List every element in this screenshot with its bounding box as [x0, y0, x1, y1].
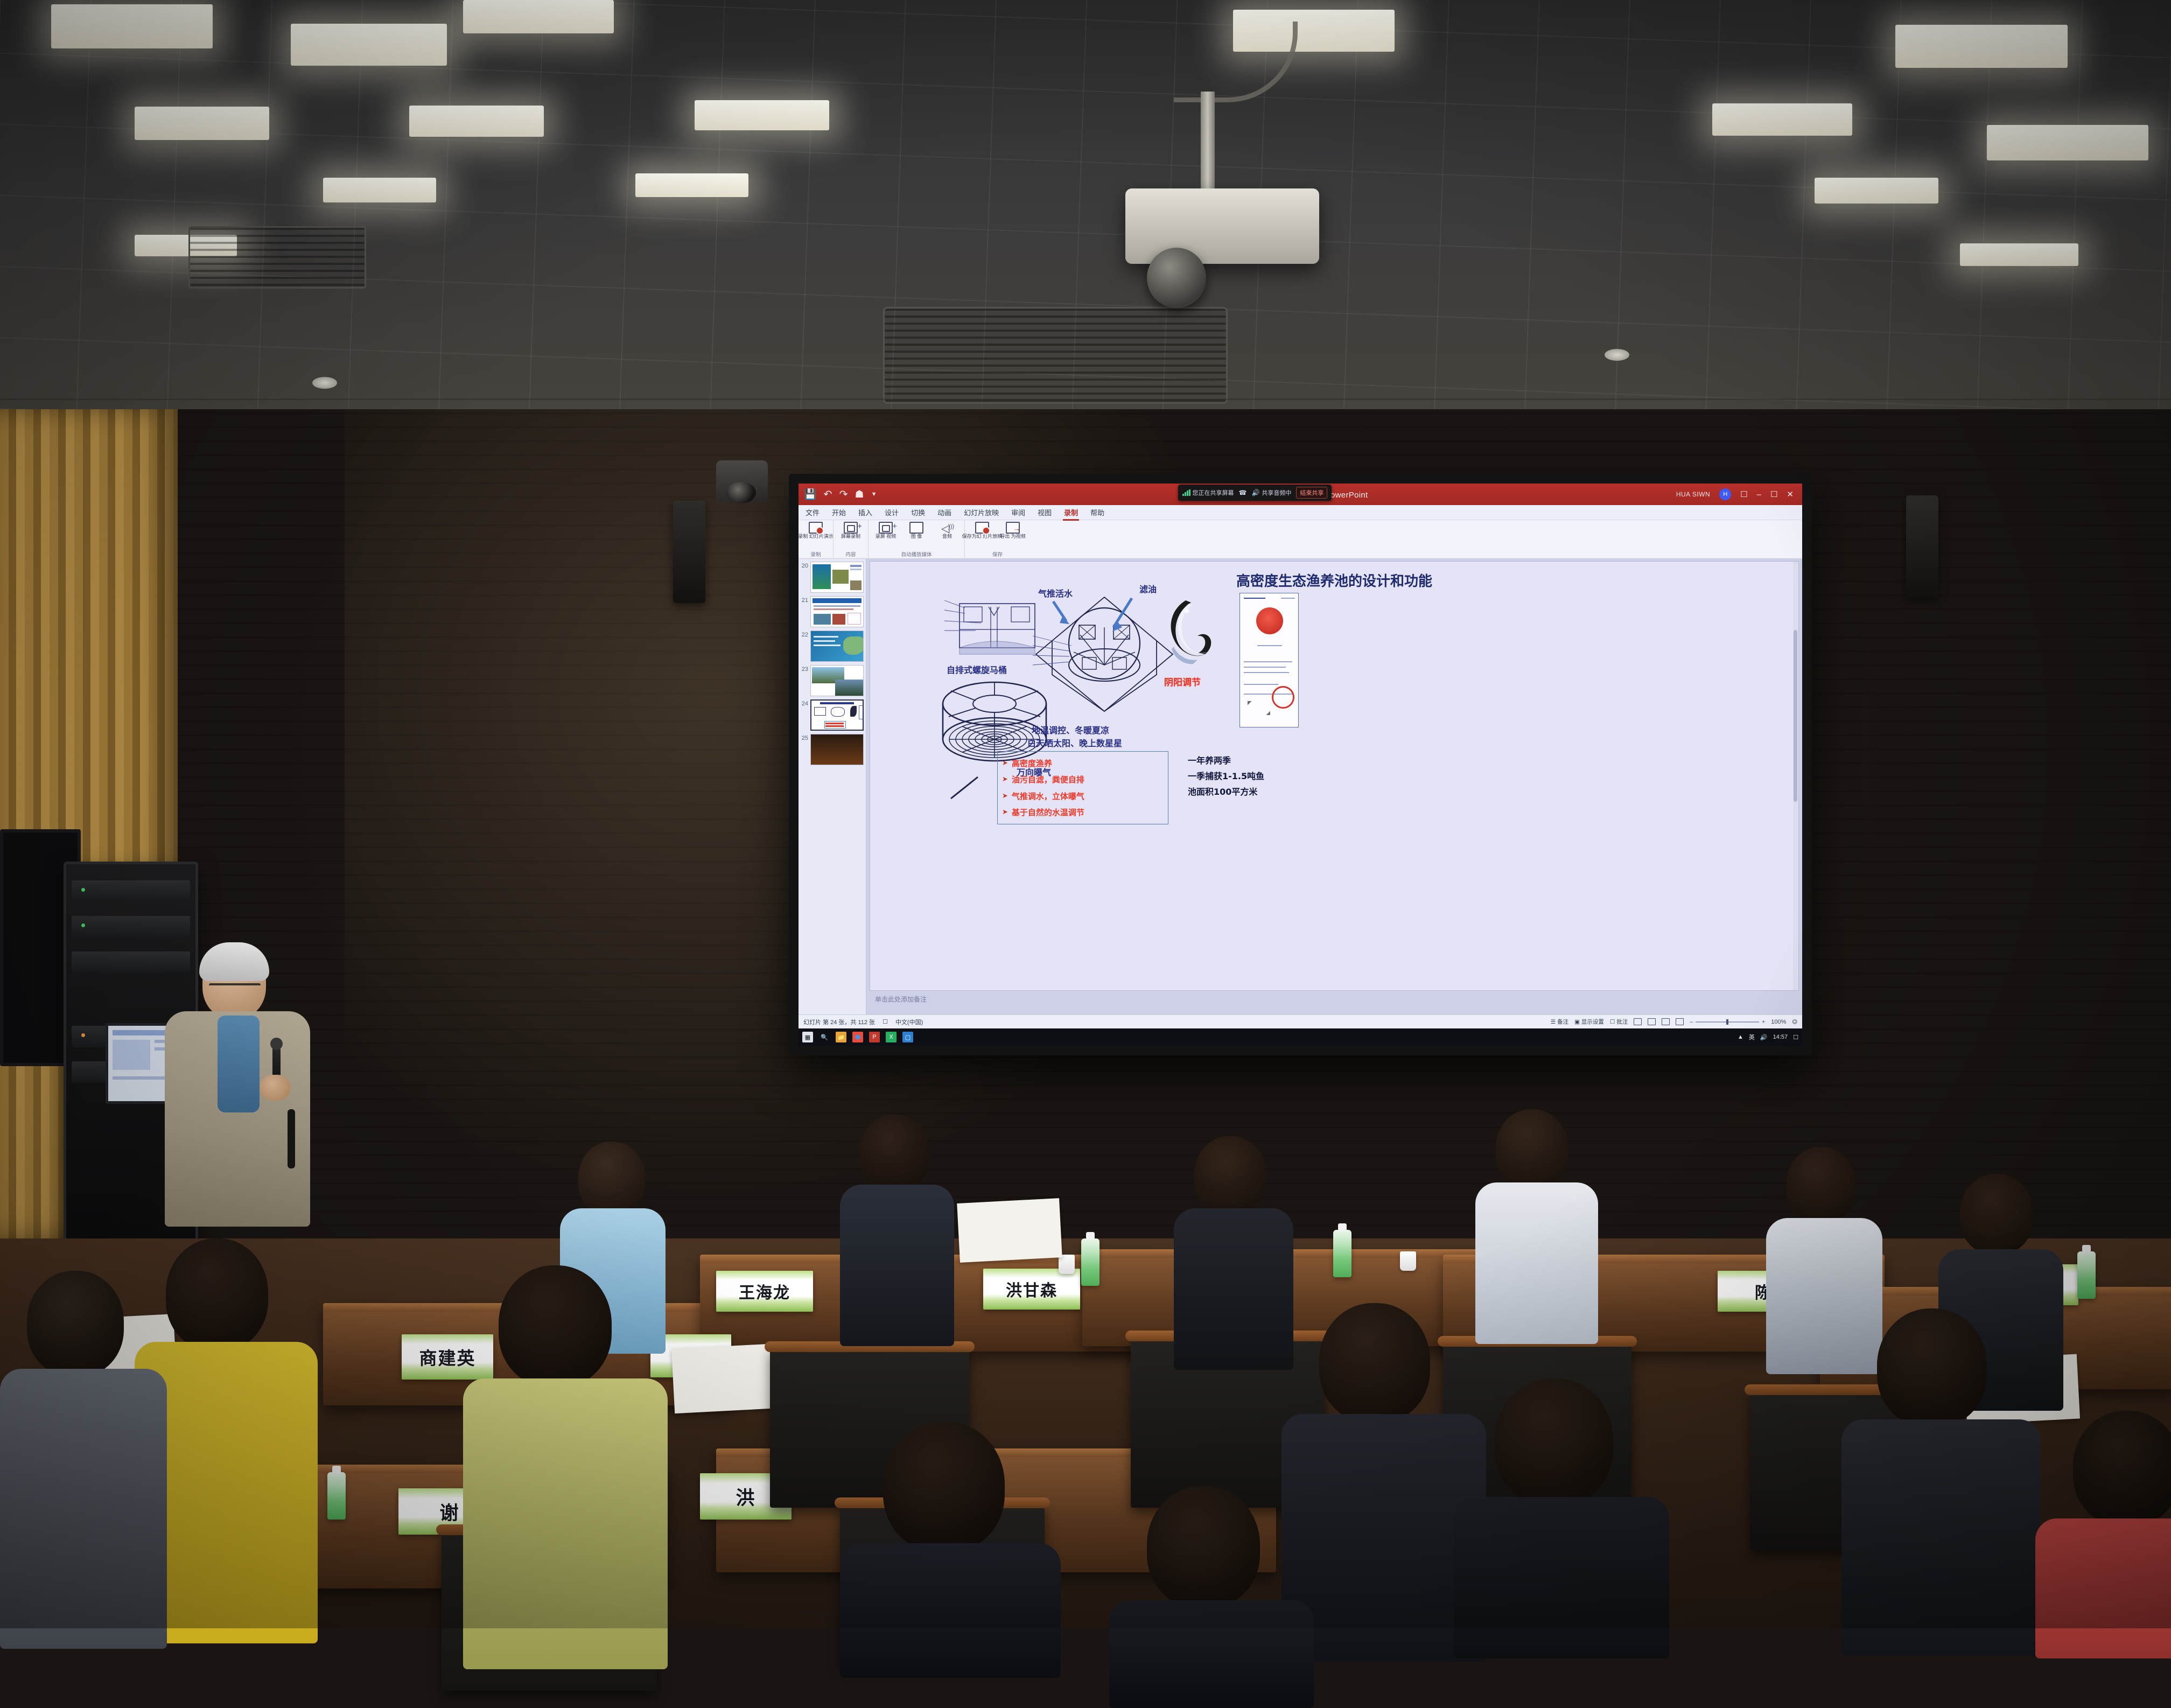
normal-view-button[interactable]: [1634, 1018, 1642, 1025]
tab-insert[interactable]: 插入: [857, 506, 873, 519]
ribbon-group-label: 保存: [970, 550, 1025, 558]
rack-status-led: [81, 923, 85, 927]
cert-red-stamp-icon: [1272, 686, 1294, 709]
rack-unit: [72, 880, 190, 902]
presenter-hand: [260, 1075, 291, 1101]
water-bottle: [1081, 1238, 1099, 1286]
taskbar-clock[interactable]: 14:57: [1773, 1034, 1788, 1040]
tab-recording[interactable]: 录制: [1063, 506, 1079, 519]
person-head: [1496, 1109, 1568, 1189]
powerpoint-window: 💾 ↶ ↷ ☗ ▼ 2024中国渔业学会年会 - PowerPoint 您正在共…: [799, 484, 1802, 1046]
person-head: [578, 1142, 645, 1216]
audio-button[interactable]: 音频: [935, 522, 960, 539]
caption-line-2: 白天晒太阳、晚上数星星: [1027, 736, 1122, 749]
screen-recording-button[interactable]: 屏幕录制: [838, 522, 863, 539]
cert-seal-icon: [1256, 607, 1283, 634]
thumbnail-number: 22: [801, 631, 808, 638]
thumbnail-row[interactable]: 20: [801, 562, 864, 593]
person-body: [0, 1369, 167, 1649]
bullet-item: ➤ 基于自然的水温调节: [1002, 807, 1164, 818]
presenter-glasses: [209, 983, 261, 993]
current-slide[interactable]: 高密度生态渔养池的设计和功能: [870, 561, 1799, 991]
language-label[interactable]: 中文(中国): [895, 1018, 923, 1026]
person-head: [1319, 1303, 1430, 1423]
feature-bullet-box: ➤ 高密度渔养 ➤ 油污自滤，粪便自排 ➤ 气推调水，立体曝气: [997, 751, 1168, 824]
windows-taskbar[interactable]: ▦ 🔍 📁 P X ▢ ▲ 英 🔊 14:57 ☐: [799, 1028, 1802, 1046]
person-body: [1841, 1419, 2041, 1656]
caption-line-1: 地温调控、冬暖夏凉: [1032, 723, 1109, 736]
slide-show-view-button[interactable]: [1676, 1018, 1684, 1025]
bullet-text: 高密度渔养: [1012, 758, 1052, 769]
bullet-text: 基于自然的水温调节: [1012, 807, 1084, 818]
signal-icon: [1182, 489, 1190, 496]
thumbnail-row[interactable]: 22: [801, 631, 864, 662]
person-body: [1475, 1182, 1598, 1344]
ceiling-light-panel: [51, 4, 213, 48]
powerpoint-status-bar: 幻灯片 第 24 张，共 112 张 ☐ 中文(中国) ☰ 备注 ▣ 显示设置 …: [799, 1014, 1802, 1028]
ceiling-light-panel: [1987, 125, 2148, 160]
person-body: [2035, 1518, 2171, 1658]
paper-cup: [1400, 1251, 1416, 1271]
rack-status-led: [81, 888, 85, 892]
bullet-item: ➤ 高密度渔养: [1002, 758, 1164, 769]
cert-text-line: [1244, 661, 1292, 662]
video-label: 录屏 视频: [876, 534, 897, 539]
person-head: [2073, 1411, 2171, 1526]
present-icon[interactable]: ☗: [855, 488, 864, 501]
arrow-bullet-icon: ➤: [1002, 792, 1008, 800]
handout-papers: [957, 1198, 1062, 1263]
person-head: [499, 1265, 612, 1387]
ceiling-light-panel: [1960, 243, 2078, 266]
thumbnail-number: 24: [801, 699, 808, 707]
tab-transitions[interactable]: 切换: [910, 506, 926, 519]
paper-cup: [1059, 1255, 1075, 1274]
zoom-level-label: 100%: [1771, 1019, 1786, 1025]
powerpoint-icon[interactable]: P: [869, 1032, 880, 1042]
stop-sharing-button[interactable]: 结束共享: [1296, 487, 1327, 499]
presenter-hair: [199, 942, 269, 981]
person-head: [1960, 1174, 2033, 1255]
water-bottle: [1333, 1230, 1351, 1277]
display-settings-button[interactable]: ▣ 显示设置: [1574, 1018, 1604, 1026]
ribbon-group-autoplay-media: 录屏 视频 图 像 音频 自动播放媒体: [869, 520, 965, 558]
save-icon[interactable]: 💾: [804, 488, 817, 501]
presenter: [162, 948, 323, 1249]
person-head: [1787, 1147, 1855, 1223]
file-explorer-icon[interactable]: 📁: [836, 1032, 846, 1042]
ribbon-display-options-icon[interactable]: ☐: [1740, 489, 1747, 499]
yinyang-fish-graphic: [1158, 595, 1217, 670]
redo-icon[interactable]: ↷: [839, 488, 848, 501]
ribbon-group-save: 保存为幻 灯片放映 导出 为视频 保存: [965, 520, 1030, 558]
rack-status-led: [81, 1033, 85, 1037]
chrome-icon[interactable]: [852, 1032, 863, 1042]
notification-icon[interactable]: ☐: [1793, 1034, 1798, 1041]
ceiling-air-vent: [188, 226, 366, 289]
person-head: [859, 1115, 929, 1192]
record-slide-show-button[interactable]: 录制 幻灯片演示: [803, 522, 828, 539]
restore-icon[interactable]: ☐: [1770, 489, 1777, 499]
stat-line: 池面积100平方米: [1188, 785, 1264, 797]
tab-animations[interactable]: 动画: [936, 506, 953, 519]
person-head: [27, 1271, 124, 1376]
video-button[interactable]: 录屏 视频: [873, 522, 898, 539]
slide-sorter-view-button[interactable]: [1648, 1018, 1656, 1025]
slide-thumbnail[interactable]: [810, 562, 864, 593]
ribbon-group-label: 自动播放媒体: [873, 550, 960, 558]
ptz-camera: [716, 460, 768, 502]
placard-wang-hailong: 王海龙: [716, 1271, 813, 1312]
start-icon[interactable]: ▦: [802, 1032, 813, 1042]
more-icon[interactable]: ▼: [871, 491, 877, 498]
slide-thumbnail-panel[interactable]: 20 21: [799, 559, 866, 1014]
close-icon[interactable]: ✕: [1787, 489, 1794, 499]
bullet-item: ➤ 气推调水，立体曝气: [1002, 790, 1164, 802]
person-body: [1454, 1497, 1669, 1658]
yinyang-label: 阴阳调节: [1164, 675, 1201, 688]
slide-thumbnail[interactable]: [810, 596, 864, 627]
notes-toggle-button[interactable]: ☰ 备注: [1551, 1018, 1568, 1026]
slide-thumbnail[interactable]: [810, 631, 864, 662]
share-audio-status[interactable]: 🔊 共享音频中: [1251, 488, 1291, 497]
tab-view[interactable]: 视图: [1037, 506, 1053, 519]
slide-thumbnail[interactable]: [810, 734, 864, 765]
volume-icon[interactable]: 🔊: [1760, 1034, 1768, 1041]
ceiling-light-panel: [135, 107, 269, 140]
smoke-detector: [312, 377, 337, 389]
image-button[interactable]: 图 像: [904, 522, 929, 539]
powerpoint-workspace: 20 21: [799, 559, 1802, 1014]
zoom-out-icon[interactable]: –: [1690, 1019, 1693, 1025]
thumbnail-row[interactable]: 25: [801, 734, 864, 765]
cert-text-line: [1244, 667, 1286, 668]
aerator-pipe-icon: [949, 775, 982, 801]
undo-icon[interactable]: ↶: [824, 488, 832, 501]
bullet-text: 气推调水，立体曝气: [1012, 790, 1084, 802]
person-body: [840, 1185, 954, 1346]
cert-text-line: [1244, 672, 1289, 673]
stat-line: 一季捕获1-1.5吨鱼: [1188, 769, 1264, 782]
ceiling-light-panel: [635, 173, 748, 197]
video-icon: [879, 522, 893, 534]
tab-home[interactable]: 开始: [831, 506, 847, 519]
cert-signature: [1248, 701, 1270, 715]
spiral-toilet-diagram: [943, 597, 1046, 662]
person-body: [840, 1543, 1061, 1678]
person-head: [1147, 1486, 1260, 1608]
fit-to-window-icon[interactable]: ⏣: [1792, 1018, 1797, 1025]
thumbnail-row[interactable]: 23: [801, 665, 864, 696]
person-head: [1495, 1378, 1613, 1506]
slide-thumbnail[interactable]: [810, 665, 864, 696]
window-controls[interactable]: HUA SIWN H ☐ – ☐ ✕: [1676, 488, 1797, 500]
ribbon-group-record: 录制 幻灯片演示 录制: [799, 520, 834, 558]
person-body: [1766, 1218, 1882, 1374]
tab-review[interactable]: 审阅: [1010, 506, 1026, 519]
ceiling-air-vent: [883, 307, 1228, 404]
presenter-pointer: [288, 1109, 295, 1168]
network-icon[interactable]: ▲: [1738, 1034, 1743, 1040]
search-icon[interactable]: 🔍: [819, 1032, 830, 1042]
cert-text-line: [1244, 684, 1278, 685]
export-video-icon: [1006, 522, 1020, 534]
ceiling-light-panel: [695, 100, 829, 130]
export-video-label: 导出 为视频: [1000, 534, 1026, 539]
ceiling-light-panel: [1895, 25, 2068, 68]
cert-header-line: [1244, 598, 1265, 599]
label-spiral-toilet: 自排式螺旋马桶: [947, 663, 1007, 676]
save-as-show-button[interactable]: 保存为幻 灯片放映: [970, 522, 995, 539]
ime-english-icon[interactable]: 英: [1749, 1033, 1755, 1041]
tab-design[interactable]: 设计: [884, 506, 900, 519]
zoom-in-icon[interactable]: +: [1762, 1019, 1765, 1025]
water-bottle: [327, 1472, 346, 1520]
slide-title: 高密度生态渔养池的设计和功能: [870, 570, 1798, 590]
ribbon[interactable]: 录制 幻灯片演示 录制 屏幕录制 内容: [799, 520, 1802, 559]
person-head: [883, 1422, 1005, 1552]
thumbnail-number: 21: [801, 596, 808, 604]
audio-icon: [940, 522, 954, 534]
share-status: 您正在共享屏幕: [1182, 488, 1234, 497]
yield-stats: 一年养两季 一季捕获1-1.5吨鱼 池面积100平方米: [1188, 753, 1264, 797]
handout-papers: [671, 1343, 782, 1413]
slide-count-label: 幻灯片 第 24 张，共 112 张: [803, 1018, 875, 1026]
thumbnail-row[interactable]: 21: [801, 596, 864, 627]
presenter-shirt: [218, 1016, 260, 1112]
stat-line: 一年养两季: [1188, 753, 1264, 766]
export-video-button[interactable]: 导出 为视频: [1000, 522, 1025, 539]
projector-lens: [1147, 248, 1206, 308]
record-slide-show-icon: [809, 522, 823, 534]
thumbnail-number: 25: [801, 734, 808, 741]
slide-scrollbar[interactable]: [1793, 562, 1798, 990]
label-oil-filter: 滤油: [1139, 582, 1157, 595]
audio-icon: 🔊: [1251, 489, 1259, 496]
person-body: [1109, 1600, 1314, 1708]
powerpoint-title-bar: 💾 ↶ ↷ ☗ ▼ 2024中国渔业学会年会 - PowerPoint 您正在共…: [799, 484, 1802, 505]
zoom-thumb[interactable]: [1726, 1019, 1728, 1025]
placard-shang-jianying: 商建英: [402, 1334, 493, 1380]
cert-text-line: [1257, 645, 1282, 646]
meeting-share-bar[interactable]: 您正在共享屏幕 ☎ 🔊 共享音频中 结束共享: [1178, 485, 1332, 501]
pond-3d-diagram: [1032, 594, 1177, 723]
rack-unit: [72, 916, 190, 937]
tab-file[interactable]: 文件: [804, 506, 821, 519]
cert-header-line: [1281, 598, 1295, 599]
comments-button[interactable]: ☐ 批注: [1610, 1018, 1628, 1026]
zoom-slider[interactable]: – +: [1690, 1019, 1765, 1025]
ceiling-light-panel: [463, 0, 614, 33]
display-screen: 💾 ↶ ↷ ☗ ▼ 2024中国渔业学会年会 - PowerPoint 您正在共…: [799, 484, 1802, 1046]
save-as-show-icon: [975, 522, 989, 534]
screen-recording-icon: [844, 522, 858, 534]
arrow-bullet-icon: ➤: [1002, 808, 1008, 816]
screen-recording-label: 屏幕录制: [841, 534, 860, 539]
wall-speaker-left: [673, 501, 705, 603]
arrow-bullet-icon: ➤: [1002, 775, 1008, 783]
ceiling-light-panel: [1712, 103, 1852, 136]
ceiling-light-panel: [409, 106, 544, 137]
phone-icon[interactable]: ☎: [1239, 489, 1247, 496]
ribbon-group-label: 内容: [838, 550, 863, 558]
thumbnail-number: 20: [801, 562, 808, 569]
image-label: 图 像: [911, 534, 922, 539]
water-bottle: [2077, 1251, 2096, 1299]
system-tray[interactable]: ▲ 英 🔊 14:57 ☐: [1738, 1033, 1798, 1041]
slide-thumbnail-selected[interactable]: [810, 699, 864, 731]
record-slide-show-label: 录制 幻灯片演示: [799, 534, 834, 539]
person-head: [1877, 1308, 1987, 1427]
slide-editing-pane: 高密度生态渔养池的设计和功能: [866, 559, 1802, 1014]
thumbnail-row[interactable]: 24: [801, 699, 864, 731]
account-name: HUA SIWN: [1676, 491, 1710, 498]
smoke-detector: [1605, 349, 1629, 361]
certificate-image: [1239, 593, 1299, 727]
minimize-icon[interactable]: –: [1757, 490, 1761, 499]
tab-slide-show[interactable]: 幻灯片放映: [963, 506, 1000, 519]
person-body: [1174, 1208, 1293, 1370]
ceiling-light-panel: [291, 24, 447, 66]
status-bar-right[interactable]: ☰ 备注 ▣ 显示设置 ☐ 批注 – + 100% ⏣: [1551, 1018, 1797, 1026]
zoom-track[interactable]: [1696, 1021, 1759, 1023]
tab-help[interactable]: 帮助: [1089, 506, 1105, 519]
placard-hong-gansen: 洪甘森: [983, 1269, 1080, 1310]
bullet-text: 油污自滤，粪便自排: [1012, 774, 1084, 785]
ribbon-tab-bar[interactable]: 文件 开始 插入 设计 切换 动画 幻灯片放映 审阅 视图 录制 帮助: [799, 505, 1802, 520]
ribbon-group-label: 录制: [803, 550, 828, 558]
thumbnail-number: 23: [801, 665, 808, 673]
photos-icon[interactable]: ▢: [902, 1032, 913, 1042]
ceiling-light-panel: [1815, 178, 1938, 204]
ceiling-light-panel: [323, 178, 436, 202]
person-body: [463, 1378, 668, 1669]
ceiling: [0, 0, 2171, 409]
save-as-show-label: 保存为幻 灯片放映: [962, 534, 1003, 539]
ceiling-projector: [1125, 188, 1319, 264]
conference-room-scene: 💾 ↶ ↷ ☗ ▼ 2024中国渔业学会年会 - PowerPoint 您正在共…: [0, 0, 2171, 1628]
accessibility-icon[interactable]: ☐: [883, 1018, 888, 1025]
avatar[interactable]: H: [1719, 488, 1731, 500]
projector-mount-arm: [1201, 92, 1215, 194]
notes-pane[interactable]: 单击此处添加备注: [870, 991, 1799, 1014]
reading-view-button[interactable]: [1662, 1018, 1670, 1025]
ribbon-group-content: 屏幕录制 内容: [834, 520, 869, 558]
person-head: [1194, 1136, 1266, 1215]
wall-display: 💾 ↶ ↷ ☗ ▼ 2024中国渔业学会年会 - PowerPoint 您正在共…: [789, 474, 1812, 1055]
person-head: [166, 1238, 268, 1350]
arrow-bullet-icon: ➤: [1002, 759, 1008, 767]
quick-access-toolbar[interactable]: 💾 ↶ ↷ ☗ ▼: [804, 488, 877, 501]
bullet-item: ➤ 油污自滤，粪便自排: [1002, 774, 1164, 785]
wall-speaker-right: [1906, 495, 1938, 598]
word-icon[interactable]: X: [886, 1032, 897, 1042]
image-icon: [909, 522, 923, 534]
